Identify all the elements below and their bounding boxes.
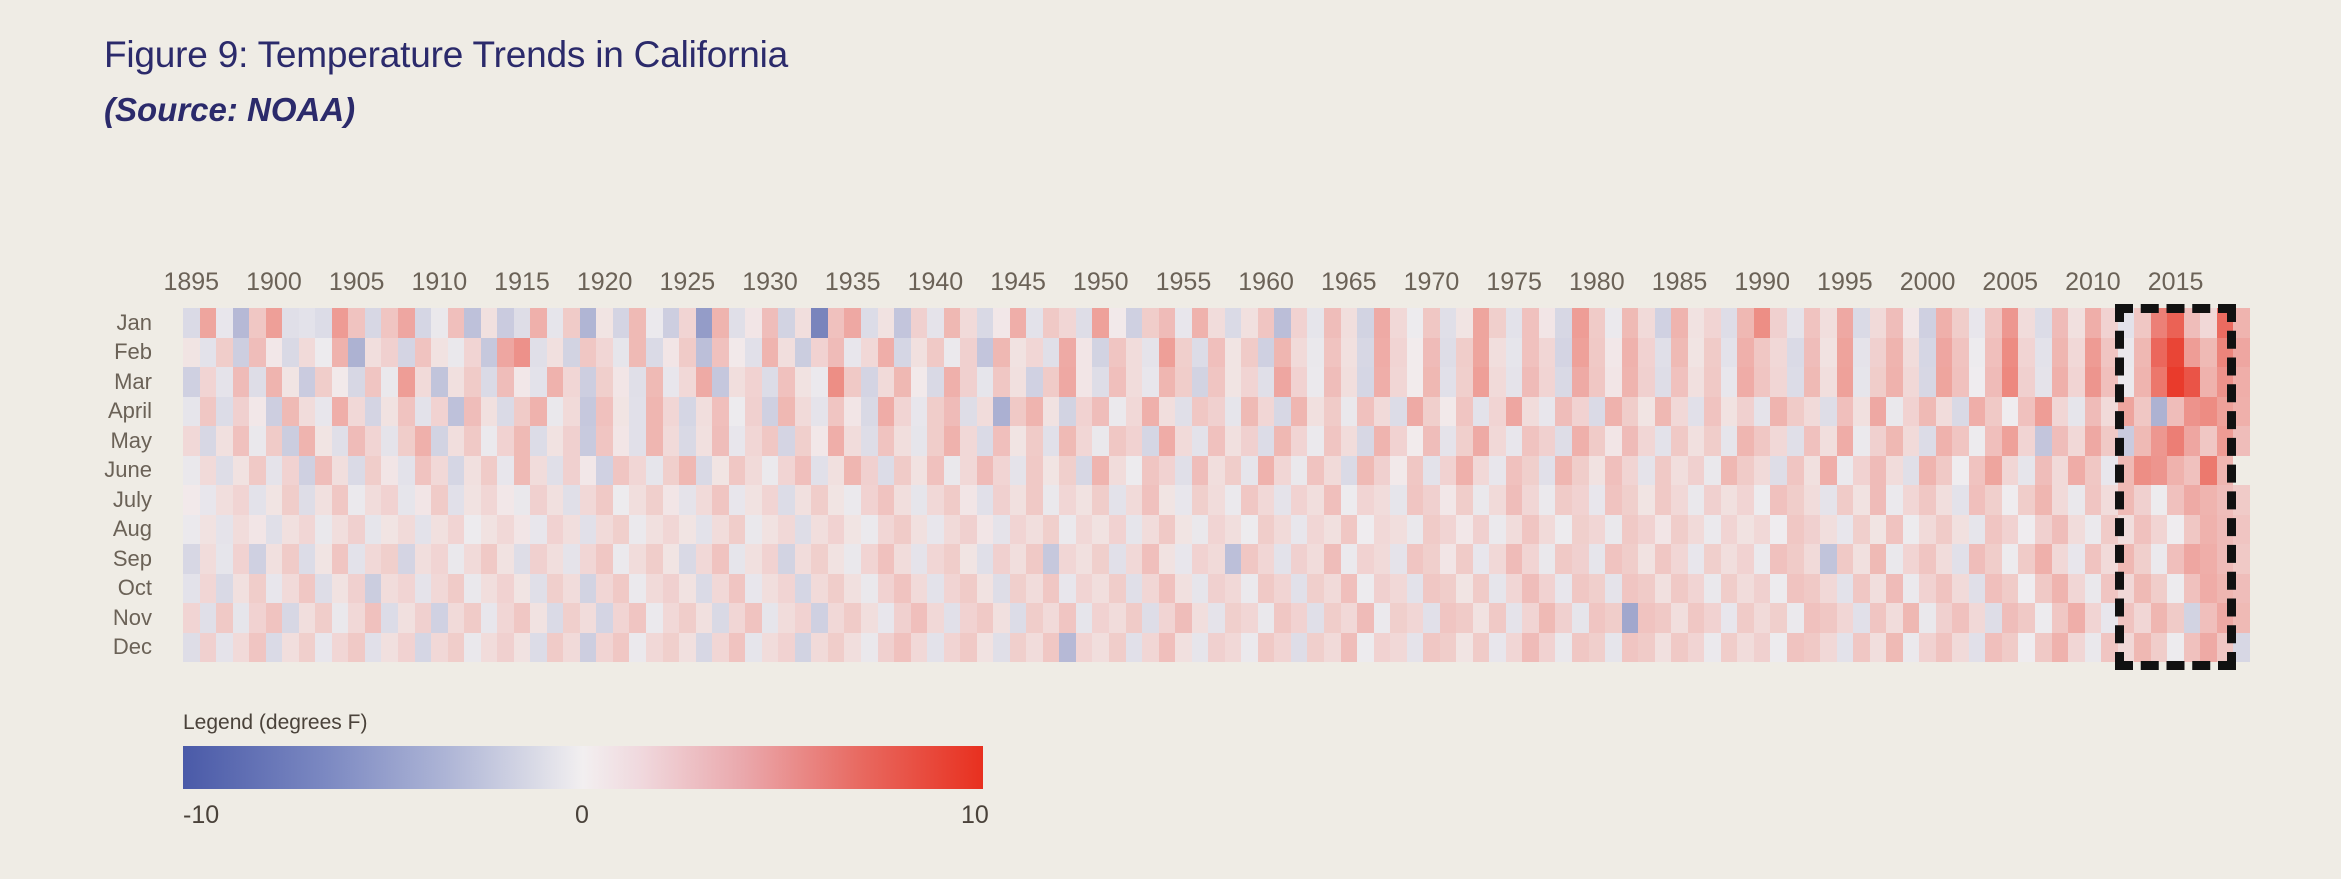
heatmap-cell — [530, 308, 547, 338]
heatmap-cell — [2200, 397, 2217, 427]
heatmap-cell — [1126, 544, 1143, 574]
heatmap-cell — [2101, 515, 2118, 545]
heatmap-cell — [365, 485, 382, 515]
y-axis-tick-label: Aug — [113, 518, 152, 540]
heatmap-cell — [596, 367, 613, 397]
heatmap-cell — [1026, 544, 1043, 574]
heatmap-cell — [1059, 397, 1076, 427]
heatmap-cell — [580, 397, 597, 427]
heatmap-cell — [1770, 308, 1787, 338]
heatmap-cell — [1291, 544, 1308, 574]
heatmap-cell — [1539, 633, 1556, 663]
heatmap-cell — [828, 426, 845, 456]
heatmap-cell — [381, 574, 398, 604]
heatmap-cell — [431, 456, 448, 486]
heatmap-cell — [2018, 515, 2035, 545]
heatmap-cell — [1307, 633, 1324, 663]
heatmap-cell — [1886, 633, 1903, 663]
heatmap-cell — [2217, 515, 2234, 545]
heatmap-cell — [663, 633, 680, 663]
heatmap-cell — [1076, 544, 1093, 574]
heatmap-cell — [1572, 515, 1589, 545]
heatmap-cell — [1522, 426, 1539, 456]
heatmap-cell — [1010, 456, 1027, 486]
heatmap-cell — [1671, 485, 1688, 515]
heatmap-cell — [2217, 308, 2234, 338]
heatmap-cell — [299, 485, 316, 515]
heatmap-cell — [844, 397, 861, 427]
heatmap-cell — [1704, 515, 1721, 545]
heatmap-cell — [679, 574, 696, 604]
heatmap-cell — [1423, 308, 1440, 338]
heatmap-cell — [1770, 456, 1787, 486]
heatmap-cell — [1539, 426, 1556, 456]
heatmap-cell — [2085, 574, 2102, 604]
heatmap-cell — [1837, 426, 1854, 456]
heatmap-cell — [1126, 574, 1143, 604]
heatmap-cell — [1307, 308, 1324, 338]
heatmap-cell — [1589, 633, 1606, 663]
heatmap-cell — [712, 603, 729, 633]
heatmap-cell — [563, 485, 580, 515]
heatmap-cell — [1820, 544, 1837, 574]
heatmap-cell — [2233, 515, 2250, 545]
heatmap-cell — [894, 308, 911, 338]
heatmap-cell — [646, 485, 663, 515]
heatmap-cell — [448, 456, 465, 486]
heatmap-cell — [381, 308, 398, 338]
heatmap-cell — [497, 574, 514, 604]
heatmap-cell — [1159, 308, 1176, 338]
heatmap-cell — [2101, 544, 2118, 574]
heatmap-cell — [696, 397, 713, 427]
heatmap-cell — [1390, 603, 1407, 633]
heatmap-cell — [365, 574, 382, 604]
heatmap-cell — [464, 633, 481, 663]
heatmap-cell — [1787, 308, 1804, 338]
heatmap-cell — [1555, 308, 1572, 338]
heatmap-cell — [795, 308, 812, 338]
heatmap-cell — [1456, 308, 1473, 338]
heatmap-cell — [1473, 456, 1490, 486]
heatmap-cell — [1423, 338, 1440, 368]
heatmap-cell — [795, 397, 812, 427]
heatmap-cell — [415, 485, 432, 515]
heatmap-cell — [1059, 633, 1076, 663]
heatmap-cell — [1142, 338, 1159, 368]
heatmap-cell — [266, 515, 283, 545]
heatmap-cell — [1010, 603, 1027, 633]
heatmap-cell — [1886, 544, 1903, 574]
heatmap-cell — [2134, 485, 2151, 515]
heatmap-cell — [398, 426, 415, 456]
heatmap-cell — [1324, 633, 1341, 663]
heatmap-cell — [679, 633, 696, 663]
heatmap-cell — [381, 603, 398, 633]
heatmap-cell — [233, 485, 250, 515]
heatmap-cell — [282, 367, 299, 397]
heatmap-cell — [2118, 338, 2135, 368]
heatmap-cell — [762, 456, 779, 486]
heatmap-cell — [2035, 515, 2052, 545]
heatmap-cell — [2018, 338, 2035, 368]
heatmap-cell — [663, 397, 680, 427]
heatmap-cell — [2167, 308, 2184, 338]
heatmap-cell — [348, 515, 365, 545]
heatmap-cell — [1307, 515, 1324, 545]
heatmap-cell — [1853, 456, 1870, 486]
heatmap-cell — [1208, 574, 1225, 604]
heatmap-cell — [1589, 338, 1606, 368]
heatmap-cell — [1192, 397, 1209, 427]
heatmap-cell — [1605, 485, 1622, 515]
heatmap-cell — [1241, 574, 1258, 604]
heatmap-cell — [1572, 367, 1589, 397]
heatmap-cell — [811, 603, 828, 633]
heatmap-cell — [2134, 367, 2151, 397]
heatmap-cell — [1225, 603, 1242, 633]
heatmap-cell — [1655, 308, 1672, 338]
heatmap-cell — [1572, 397, 1589, 427]
heatmap-cell — [1241, 633, 1258, 663]
heatmap-cell — [398, 456, 415, 486]
heatmap-cell — [1919, 515, 1936, 545]
heatmap-cell — [547, 456, 564, 486]
heatmap-cell — [2101, 603, 2118, 633]
heatmap-cell — [911, 426, 928, 456]
legend-tick-label: 10 — [961, 803, 989, 828]
heatmap-cell — [530, 426, 547, 456]
heatmap-cell — [1820, 397, 1837, 427]
heatmap-cell — [1489, 544, 1506, 574]
heatmap-cell — [1605, 633, 1622, 663]
heatmap-cell — [1688, 515, 1705, 545]
heatmap-cell — [1175, 397, 1192, 427]
heatmap-cell — [1770, 485, 1787, 515]
heatmap-cell — [1010, 574, 1027, 604]
heatmap-cell — [1407, 544, 1424, 574]
heatmap-cell — [547, 574, 564, 604]
heatmap-cell — [911, 397, 928, 427]
heatmap-cell — [1837, 574, 1854, 604]
heatmap-cell — [2002, 308, 2019, 338]
heatmap-cell — [1572, 544, 1589, 574]
heatmap-cell — [993, 308, 1010, 338]
heatmap-cell — [580, 633, 597, 663]
heatmap-cell — [944, 574, 961, 604]
heatmap-cell — [2233, 603, 2250, 633]
heatmap-cell — [1969, 485, 1986, 515]
heatmap-cell — [2217, 426, 2234, 456]
heatmap-cell — [2118, 544, 2135, 574]
heatmap-cell — [778, 574, 795, 604]
heatmap-cell — [2018, 633, 2035, 663]
heatmap-cell — [1903, 308, 1920, 338]
heatmap-cell — [960, 485, 977, 515]
heatmap-cell — [1770, 367, 1787, 397]
heatmap-cell — [646, 397, 663, 427]
heatmap-cell — [2134, 544, 2151, 574]
heatmap-cell — [398, 308, 415, 338]
heatmap-cell — [596, 603, 613, 633]
heatmap-cell — [844, 633, 861, 663]
heatmap-cell — [1506, 544, 1523, 574]
heatmap-cell — [497, 397, 514, 427]
heatmap-cell — [1274, 367, 1291, 397]
heatmap-cell — [1704, 308, 1721, 338]
heatmap-cell — [1936, 515, 1953, 545]
heatmap-cell — [1969, 456, 1986, 486]
heatmap-cell — [1589, 574, 1606, 604]
heatmap-cell — [249, 515, 266, 545]
heatmap-cell — [696, 603, 713, 633]
heatmap-cell — [2217, 574, 2234, 604]
heatmap-cell — [233, 426, 250, 456]
heatmap-cell — [216, 603, 233, 633]
heatmap-cell — [1059, 603, 1076, 633]
heatmap-cell — [497, 338, 514, 368]
heatmap-cell — [2052, 603, 2069, 633]
heatmap-cell — [1225, 426, 1242, 456]
heatmap-cell — [1208, 426, 1225, 456]
heatmap-cell — [200, 367, 217, 397]
heatmap-cell — [1655, 367, 1672, 397]
heatmap-cell — [977, 397, 994, 427]
heatmap-cell — [1853, 515, 1870, 545]
heatmap-cell — [1390, 515, 1407, 545]
heatmap-cell — [415, 397, 432, 427]
heatmap-cell — [2118, 485, 2135, 515]
heatmap-cell — [2052, 338, 2069, 368]
heatmap-cell — [861, 633, 878, 663]
heatmap-cell — [960, 603, 977, 633]
heatmap-cell — [2217, 485, 2234, 515]
heatmap-cell — [1655, 397, 1672, 427]
y-axis-tick-label: Oct — [118, 577, 152, 599]
heatmap-cell — [679, 544, 696, 574]
heatmap-cell — [894, 633, 911, 663]
heatmap-cell — [2233, 456, 2250, 486]
x-axis-tick-label: 1960 — [1238, 270, 1294, 295]
heatmap-cell — [646, 308, 663, 338]
heatmap-cell — [315, 515, 332, 545]
heatmap-cell — [2018, 485, 2035, 515]
heatmap-cell — [1390, 338, 1407, 368]
heatmap-cell — [282, 515, 299, 545]
heatmap-cell — [1721, 633, 1738, 663]
heatmap-cell — [1489, 308, 1506, 338]
heatmap-cell — [315, 338, 332, 368]
heatmap-cell — [1357, 633, 1374, 663]
heatmap-cell — [266, 633, 283, 663]
heatmap-cell — [1837, 544, 1854, 574]
heatmap-cell — [977, 426, 994, 456]
heatmap-cell — [332, 426, 349, 456]
heatmap-cell — [563, 426, 580, 456]
heatmap-cell — [448, 338, 465, 368]
heatmap-cell — [530, 574, 547, 604]
heatmap-cell — [1489, 367, 1506, 397]
heatmap-cell — [1539, 603, 1556, 633]
heatmap-cell — [2002, 338, 2019, 368]
heatmap-cell — [415, 633, 432, 663]
heatmap-cell — [1159, 456, 1176, 486]
heatmap-cell — [2200, 603, 2217, 633]
heatmap-cell — [1208, 456, 1225, 486]
heatmap-cell — [464, 485, 481, 515]
heatmap-cell — [2035, 485, 2052, 515]
heatmap-cell — [712, 633, 729, 663]
heatmap-cell — [1059, 308, 1076, 338]
heatmap-cell — [1572, 574, 1589, 604]
heatmap-cell — [1572, 633, 1589, 663]
heatmap-cell — [2134, 397, 2151, 427]
heatmap-cell — [2068, 544, 2085, 574]
heatmap-cell — [1506, 397, 1523, 427]
heatmap-cell — [1572, 338, 1589, 368]
heatmap-cell — [2200, 426, 2217, 456]
heatmap-cell — [266, 603, 283, 633]
heatmap-cell — [2101, 456, 2118, 486]
heatmap-cell — [712, 338, 729, 368]
heatmap-cell — [712, 397, 729, 427]
heatmap-cell — [993, 515, 1010, 545]
heatmap-cell — [1473, 426, 1490, 456]
heatmap-cell — [1274, 544, 1291, 574]
heatmap-cell — [1655, 338, 1672, 368]
title-block: Figure 9: Temperature Trends in Californ… — [104, 36, 1504, 127]
heatmap-cell — [960, 633, 977, 663]
heatmap-cell — [1506, 338, 1523, 368]
heatmap-cell — [266, 574, 283, 604]
heatmap-cell — [1721, 603, 1738, 633]
heatmap-cell — [911, 338, 928, 368]
heatmap-cell — [563, 308, 580, 338]
heatmap-cell — [514, 485, 531, 515]
heatmap-cell — [547, 397, 564, 427]
heatmap-cell — [844, 515, 861, 545]
heatmap-cell — [2118, 574, 2135, 604]
heatmap-cell — [596, 515, 613, 545]
heatmap-cell — [1159, 367, 1176, 397]
heatmap-cell — [1440, 515, 1457, 545]
heatmap-cell — [2085, 426, 2102, 456]
heatmap-cell — [580, 426, 597, 456]
heatmap-cell — [1539, 574, 1556, 604]
x-axis-tick-label: 1980 — [1569, 270, 1625, 295]
heatmap-cell — [282, 574, 299, 604]
heatmap-cell — [1357, 308, 1374, 338]
heatmap-row — [183, 397, 2250, 427]
heatmap-cell — [1737, 338, 1754, 368]
heatmap-cell — [646, 574, 663, 604]
heatmap-cell — [1820, 633, 1837, 663]
heatmap-cell — [1440, 603, 1457, 633]
heatmap-cell — [1737, 367, 1754, 397]
heatmap-cell — [1589, 485, 1606, 515]
heatmap-cell — [2035, 456, 2052, 486]
heatmap-cell — [1837, 456, 1854, 486]
heatmap-cell — [1026, 308, 1043, 338]
heatmap-cell — [249, 367, 266, 397]
heatmap-cell — [431, 544, 448, 574]
heatmap-cell — [762, 367, 779, 397]
heatmap-cell — [2035, 633, 2052, 663]
heatmap-cell — [1870, 338, 1887, 368]
heatmap-cell — [1225, 485, 1242, 515]
heatmap-cell — [1522, 544, 1539, 574]
heatmap-cell — [1010, 367, 1027, 397]
heatmap-cell — [1225, 308, 1242, 338]
heatmap-cell — [1605, 338, 1622, 368]
heatmap-cell — [1952, 308, 1969, 338]
heatmap-cell — [861, 456, 878, 486]
heatmap-cell — [1324, 426, 1341, 456]
heatmap-cell — [894, 338, 911, 368]
heatmap-cell — [1440, 308, 1457, 338]
heatmap-cell — [911, 308, 928, 338]
heatmap-cell — [1324, 485, 1341, 515]
heatmap-cell — [696, 338, 713, 368]
heatmap-cell — [1059, 456, 1076, 486]
heatmap-cell — [2052, 515, 2069, 545]
heatmap-cell — [927, 633, 944, 663]
heatmap-cell — [596, 308, 613, 338]
heatmap-cell — [1390, 456, 1407, 486]
heatmap-cell — [497, 456, 514, 486]
heatmap-cell — [911, 544, 928, 574]
heatmap-cell — [481, 633, 498, 663]
heatmap-cell — [613, 367, 630, 397]
heatmap-cell — [1258, 574, 1275, 604]
heatmap-cell — [2101, 367, 2118, 397]
heatmap-cell — [927, 308, 944, 338]
heatmap-cell — [844, 426, 861, 456]
heatmap-cell — [431, 603, 448, 633]
heatmap-cell — [1919, 544, 1936, 574]
heatmap-cell — [1969, 515, 1986, 545]
heatmap-cell — [2068, 426, 2085, 456]
heatmap-cell — [514, 426, 531, 456]
heatmap-cell — [861, 485, 878, 515]
heatmap-cell — [1407, 308, 1424, 338]
heatmap-cell — [977, 544, 994, 574]
heatmap-cell — [464, 515, 481, 545]
heatmap-cell — [381, 367, 398, 397]
heatmap-cell — [1605, 574, 1622, 604]
heatmap-cell — [448, 544, 465, 574]
heatmap-cell — [1721, 308, 1738, 338]
heatmap-cell — [1638, 574, 1655, 604]
heatmap-cell — [530, 397, 547, 427]
heatmap-cell — [828, 633, 845, 663]
heatmap-cell — [894, 397, 911, 427]
heatmap-cell — [2052, 485, 2069, 515]
heatmap-cell — [646, 633, 663, 663]
heatmap-cell — [1440, 367, 1457, 397]
heatmap-cell — [1671, 574, 1688, 604]
heatmap-cell — [2151, 603, 2168, 633]
heatmap-cell — [993, 397, 1010, 427]
heatmap-cell — [1473, 574, 1490, 604]
heatmap-cell — [1853, 603, 1870, 633]
heatmap-cell — [282, 338, 299, 368]
heatmap-cell — [514, 603, 531, 633]
heatmap-cell — [1390, 485, 1407, 515]
heatmap-cell — [1208, 633, 1225, 663]
heatmap-cell — [200, 485, 217, 515]
heatmap-cell — [663, 603, 680, 633]
